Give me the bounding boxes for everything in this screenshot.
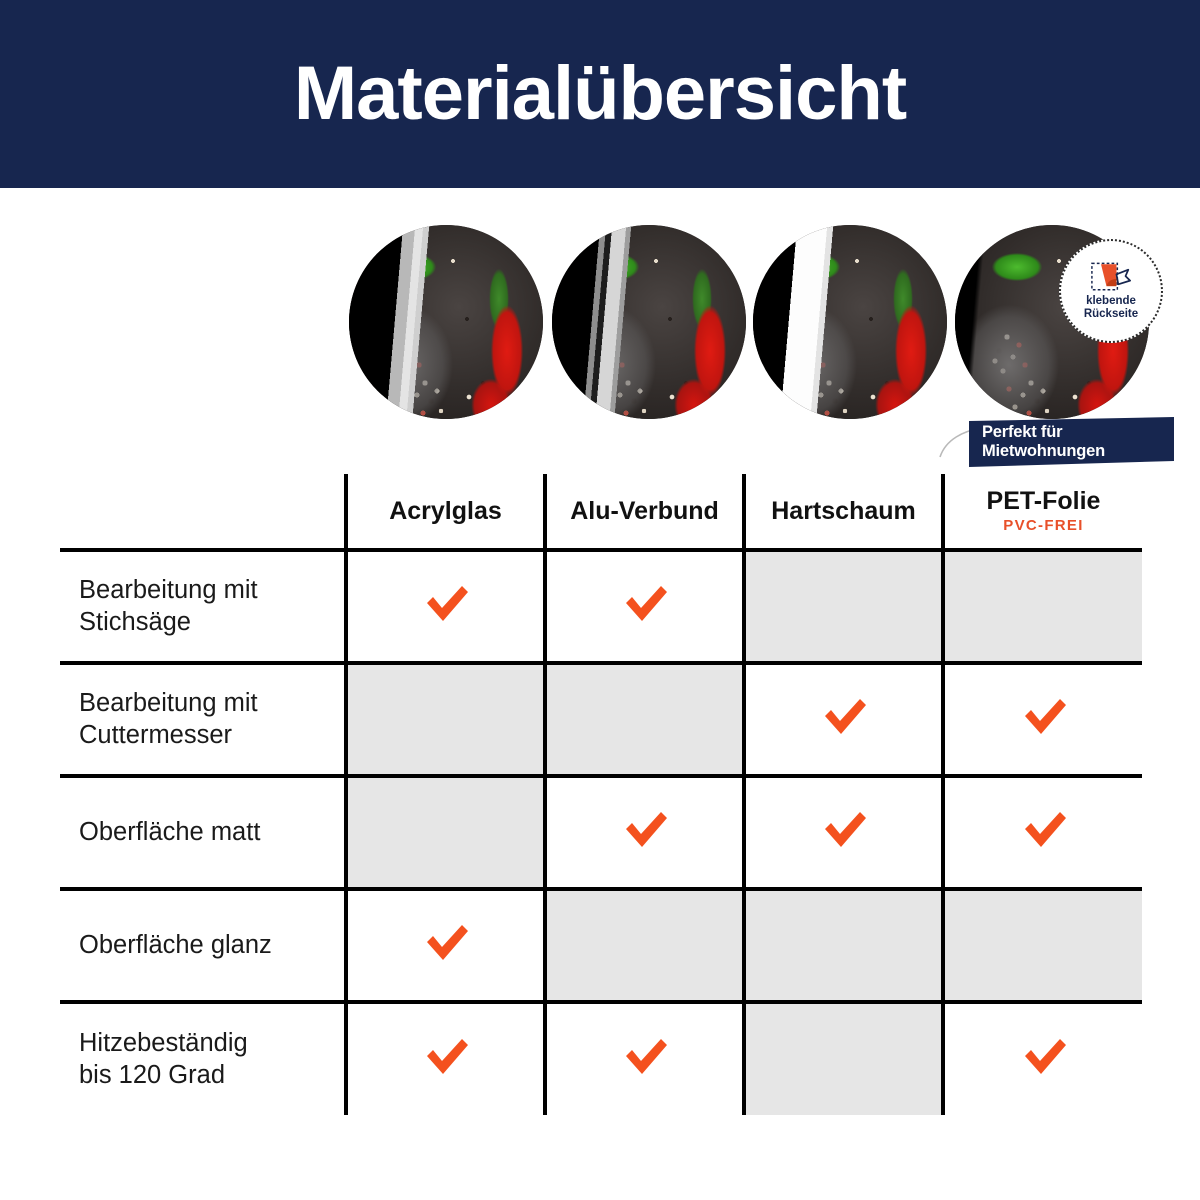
column-header-alu-verbund-label: Alu-Verbund <box>547 498 742 524</box>
cell-not-supported <box>545 663 744 776</box>
row-label-line1: Oberfläche glanz <box>79 930 344 961</box>
check-icon <box>620 809 670 851</box>
material-edge-folie <box>955 225 989 419</box>
column-header-hartschaum-label: Hartschaum <box>746 498 941 524</box>
cell-supported <box>346 550 545 663</box>
product-circle-acrylglas[interactable] <box>349 225 543 419</box>
page-title: Materialübersicht <box>294 56 906 132</box>
table-row: Bearbeitung mitStichsäge <box>60 550 1142 663</box>
cell-supported <box>943 1002 1142 1115</box>
cell-not-supported <box>943 550 1142 663</box>
row-label-line1: Oberfläche matt <box>79 817 344 848</box>
cell-not-supported <box>545 889 744 1002</box>
table-corner-cell <box>60 474 346 550</box>
material-edge-alu <box>552 225 644 419</box>
cell-not-supported <box>744 889 943 1002</box>
table-row: Oberfläche glanz <box>60 889 1142 1002</box>
table-row: Hitzebeständigbis 120 Grad <box>60 1002 1142 1115</box>
column-header-pet-folie-label: PET-Folie <box>945 488 1142 514</box>
check-icon <box>620 1036 670 1078</box>
check-icon <box>819 696 869 738</box>
cell-supported <box>744 663 943 776</box>
adhesive-badge-line2: Rückseite <box>1084 308 1138 321</box>
row-label: Oberfläche matt <box>60 776 346 889</box>
row-label-line1: Bearbeitung mit <box>79 575 344 606</box>
check-icon <box>819 809 869 851</box>
cell-supported <box>545 1002 744 1115</box>
cell-supported <box>943 776 1142 889</box>
table-row: Oberfläche matt <box>60 776 1142 889</box>
table-header-row: Acrylglas Alu-Verbund Hartschaum PET-Fol… <box>60 474 1142 550</box>
column-header-hartschaum: Hartschaum <box>744 474 943 550</box>
check-icon <box>421 922 471 964</box>
column-header-pet-folie: PET-Folie PVC-FREI <box>943 474 1142 550</box>
material-edge-acryl <box>349 225 441 419</box>
adhesive-badge-line1: klebende <box>1084 295 1138 308</box>
cell-supported <box>346 1002 545 1115</box>
column-header-alu-verbund: Alu-Verbund <box>545 474 744 550</box>
table-body: Bearbeitung mitStichsägeBearbeitung mitC… <box>60 550 1142 1115</box>
cell-supported <box>943 663 1142 776</box>
ribbon-line1: Perfekt für <box>982 423 1174 442</box>
column-header-pet-folie-sublabel: PVC-FREI <box>945 517 1142 534</box>
cell-supported <box>744 776 943 889</box>
column-header-acrylglas: Acrylglas <box>346 474 545 550</box>
cell-supported <box>346 889 545 1002</box>
product-circle-hartschaum[interactable] <box>753 225 947 419</box>
check-icon <box>1019 696 1069 738</box>
check-icon <box>421 1036 471 1078</box>
product-circle-alu-verbund[interactable] <box>552 225 746 419</box>
cell-supported <box>545 550 744 663</box>
cell-not-supported <box>744 550 943 663</box>
row-label-line2: Stichsäge <box>79 607 344 638</box>
check-icon <box>1019 1036 1069 1078</box>
header-bar: Materialübersicht <box>0 0 1200 188</box>
ribbon-perfekt-fuer-mietwohnungen: Perfekt für Mietwohnungen <box>969 417 1174 467</box>
check-icon <box>421 583 471 625</box>
row-label: Hitzebeständigbis 120 Grad <box>60 1002 346 1115</box>
peel-sticker-icon <box>1091 262 1131 292</box>
check-icon <box>1019 809 1069 851</box>
product-circles-row <box>0 225 1200 435</box>
table-row: Bearbeitung mitCuttermesser <box>60 663 1142 776</box>
row-label-line2: bis 120 Grad <box>79 1060 344 1091</box>
row-label-line2: Cuttermesser <box>79 720 344 751</box>
ribbon-line2: Mietwohnungen <box>982 442 1174 461</box>
adhesive-badge-text: klebende Rückseite <box>1084 295 1138 321</box>
row-label-line1: Hitzebeständig <box>79 1028 344 1059</box>
row-label: Bearbeitung mitCuttermesser <box>60 663 346 776</box>
check-icon <box>620 583 670 625</box>
cell-not-supported <box>744 1002 943 1115</box>
material-comparison-table: Acrylglas Alu-Verbund Hartschaum PET-Fol… <box>60 474 1142 1115</box>
cell-not-supported <box>943 889 1142 1002</box>
cell-supported <box>545 776 744 889</box>
row-label: Bearbeitung mitStichsäge <box>60 550 346 663</box>
row-label: Oberfläche glanz <box>60 889 346 1002</box>
cell-not-supported <box>346 663 545 776</box>
material-edge-foam <box>753 225 845 419</box>
adhesive-backing-badge: klebende Rückseite <box>1059 239 1163 343</box>
row-label-line1: Bearbeitung mit <box>79 688 344 719</box>
column-header-acrylglas-label: Acrylglas <box>348 498 543 524</box>
cell-not-supported <box>346 776 545 889</box>
